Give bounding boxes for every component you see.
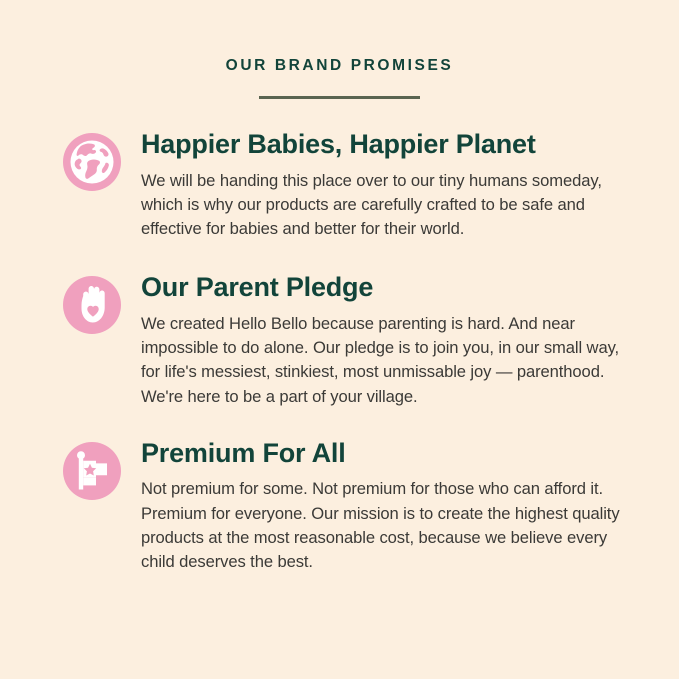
promise-content: Premium For All Not premium for some. No… [141,439,641,574]
promise-heading: Our Parent Pledge [141,273,641,302]
promise-description: Not premium for some. Not premium for th… [141,477,641,574]
flag-star-icon [62,441,122,501]
page-title: OUR BRAND PROMISES [0,57,679,74]
promise-content: Happier Babies, Happier Planet We will b… [141,130,641,241]
promise-content: Our Parent Pledge We created Hello Bello… [141,273,641,408]
promise-description: We created Hello Bello because parenting… [141,312,641,409]
promise-heading: Premium For All [141,439,641,468]
title-divider [259,96,420,99]
brand-promises-page: OUR BRAND PROMISES Happier Bab [0,0,679,679]
promise-heading: Happier Babies, Happier Planet [141,130,641,159]
hand-heart-icon [62,275,122,335]
promises-list: Happier Babies, Happier Planet We will b… [0,130,679,574]
promise-description: We will be handing this place over to ou… [141,169,641,242]
divider-container [0,96,679,99]
promise-item-premium-for-all: Premium For All Not premium for some. No… [0,439,679,574]
page-header: OUR BRAND PROMISES [0,0,679,99]
promise-item-parent-pledge: Our Parent Pledge We created Hello Bello… [0,273,679,408]
globe-icon [62,132,122,192]
promise-item-happier-babies: Happier Babies, Happier Planet We will b… [0,130,679,241]
